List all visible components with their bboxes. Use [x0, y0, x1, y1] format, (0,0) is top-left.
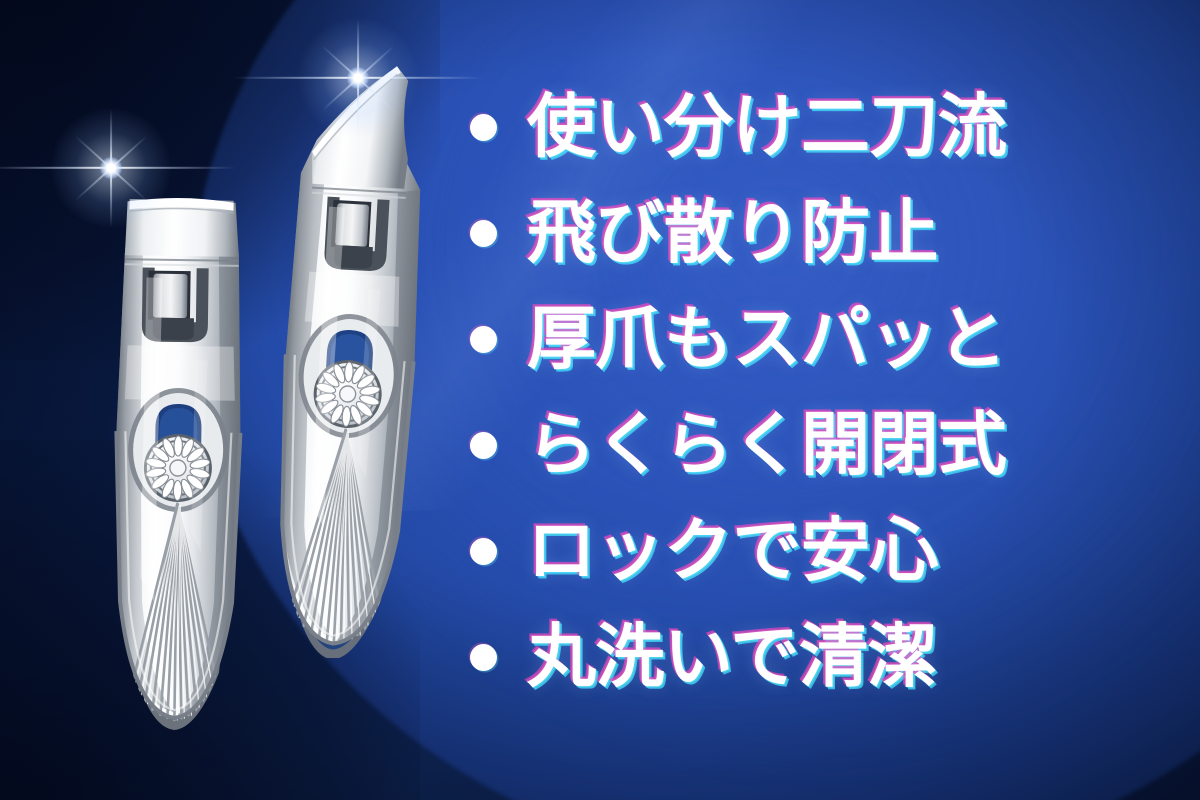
product-clipper-straight — [82, 150, 302, 730]
banner-canvas: 使い分け二刀流 飛び散り防止 厚爪もスパッと らくらく開閉式 ロックで安心 丸洗… — [0, 0, 1200, 800]
bullet-dot-icon — [470, 326, 497, 353]
bullet-dot-icon — [470, 114, 497, 141]
feature-bullet-dual-use: 使い分け二刀流 — [470, 74, 1170, 180]
bullet-dot-icon — [470, 220, 497, 247]
feature-bullet-list: 使い分け二刀流 飛び散り防止 厚爪もスパッと らくらく開閉式 ロックで安心 丸洗… — [470, 74, 1170, 710]
feature-bullet-no-scatter: 飛び散り防止 — [470, 180, 1170, 286]
bullet-dot-icon — [470, 432, 497, 459]
feature-bullet-washable: 丸洗いで清潔 — [470, 604, 1170, 710]
bullet-dot-icon — [470, 538, 497, 565]
feature-label-easy-open-close: らくらく開閉式 — [527, 411, 1007, 480]
bullet-dot-icon — [470, 644, 497, 671]
feature-bullet-thick-nails: 厚爪もスパッと — [470, 286, 1170, 392]
feature-label-thick-nails: 厚爪もスパッと — [527, 305, 1007, 374]
feature-bullet-safety-lock: ロックで安心 — [470, 498, 1170, 604]
feature-label-safety-lock: ロックで安心 — [527, 517, 938, 586]
feature-bullet-easy-open-close: らくらく開閉式 — [470, 392, 1170, 498]
feature-label-washable: 丸洗いで清潔 — [527, 623, 936, 692]
feature-label-dual-use: 使い分け二刀流 — [527, 93, 1007, 162]
feature-label-no-scatter: 飛び散り防止 — [527, 199, 938, 268]
